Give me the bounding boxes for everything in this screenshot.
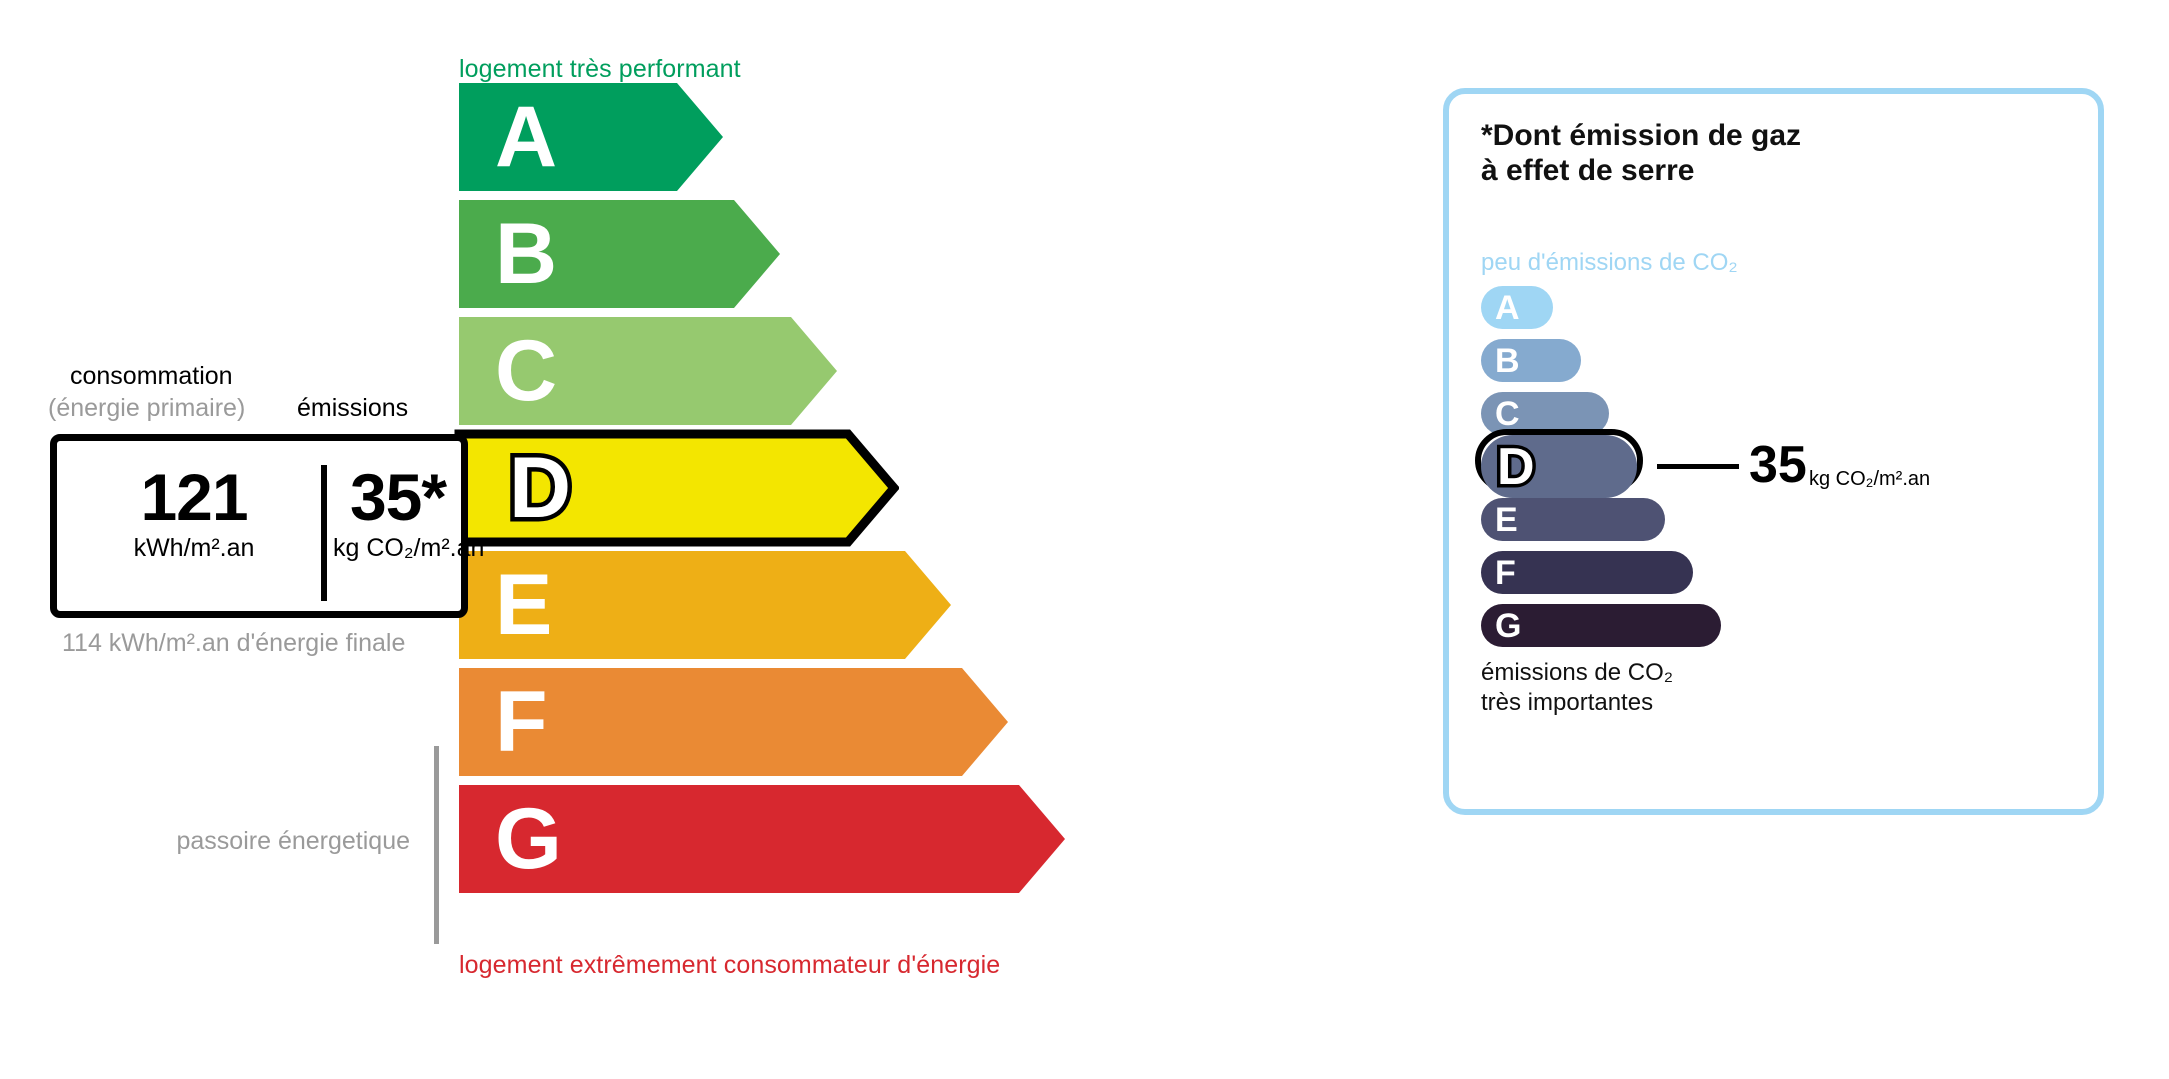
co2-bar-g: G xyxy=(1481,604,1721,647)
energy-bar-letter: G xyxy=(495,796,562,882)
energy-bar-b: B xyxy=(459,200,780,308)
energy-bar-e: E xyxy=(459,551,951,659)
metric-co2-emissions: 35* kg CO₂/m².an xyxy=(333,463,463,563)
co2-bar-a: A xyxy=(1481,286,1553,329)
energy-bar-letter: C xyxy=(495,328,557,414)
energy-bar-g: G xyxy=(459,785,1065,893)
energy-bar-c: C xyxy=(459,317,837,425)
co2-leader-line xyxy=(1657,464,1739,469)
label-emissions: émissions xyxy=(297,394,408,423)
co2-bar-letter: A xyxy=(1495,291,1520,325)
energy-performance-chart: logement très performant ABCDEFG consomm… xyxy=(0,0,1400,1079)
co2-bar-letter: G xyxy=(1495,609,1521,643)
co2-bottom-caption: émissions de CO₂ très importantes xyxy=(1481,658,1673,718)
co2-emissions-panel: *Dont émission de gaz à effet de serre p… xyxy=(1443,88,2104,815)
passoire-rule xyxy=(434,746,439,944)
co2-bar-f: F xyxy=(1481,551,1693,594)
co2-bar-letter: F xyxy=(1495,556,1516,590)
co2-selected-value: 35 xyxy=(1749,439,1807,491)
co2-bar-letter: E xyxy=(1495,503,1518,537)
energy-top-caption: logement très performant xyxy=(459,55,741,84)
co2-bar-letter: B xyxy=(1495,344,1520,378)
energy-value: 121 xyxy=(69,463,319,532)
co2-bar-letter: C xyxy=(1495,397,1520,431)
rating-value-box: 121 kWh/m².an 35* kg CO₂/m².an xyxy=(50,434,468,618)
co2-bar-d: D xyxy=(1481,435,1637,498)
energy-bar-a: A xyxy=(459,83,723,191)
energy-bar-letter: A xyxy=(495,94,557,180)
co2-bar-e: E xyxy=(1481,498,1665,541)
energy-bar-letter: D xyxy=(509,445,571,531)
co2-bar-b: B xyxy=(1481,339,1581,382)
passoire-note: passoire énergetique xyxy=(150,826,410,857)
energy-bar-f: F xyxy=(459,668,1008,776)
co2-selected-unit: kg CO₂/m².an xyxy=(1809,469,1930,489)
rating-divider xyxy=(321,465,327,601)
co2-panel-title: *Dont émission de gaz à effet de serre xyxy=(1481,118,1801,189)
energy-unit: kWh/m².an xyxy=(69,534,319,563)
label-energie-primaire: (énergie primaire) xyxy=(48,394,245,423)
co2-unit: kg CO₂/m².an xyxy=(333,534,463,563)
energy-bar-d: D xyxy=(459,434,894,542)
co2-value: 35* xyxy=(333,463,463,532)
co2-top-caption: peu d'émissions de CO₂ xyxy=(1481,249,1738,277)
label-consommation: consommation xyxy=(70,362,233,391)
energy-bottom-caption: logement extrêmement consommateur d'éner… xyxy=(459,951,1000,980)
energy-bar-letter: F xyxy=(495,679,548,765)
metric-energy-consumption: 121 kWh/m².an xyxy=(69,463,319,563)
energy-bar-letter: E xyxy=(495,562,552,648)
final-energy-note: 114 kWh/m².an d'énergie finale xyxy=(62,628,405,659)
co2-bar-letter: D xyxy=(1497,441,1535,493)
energy-bar-letter: B xyxy=(495,211,557,297)
